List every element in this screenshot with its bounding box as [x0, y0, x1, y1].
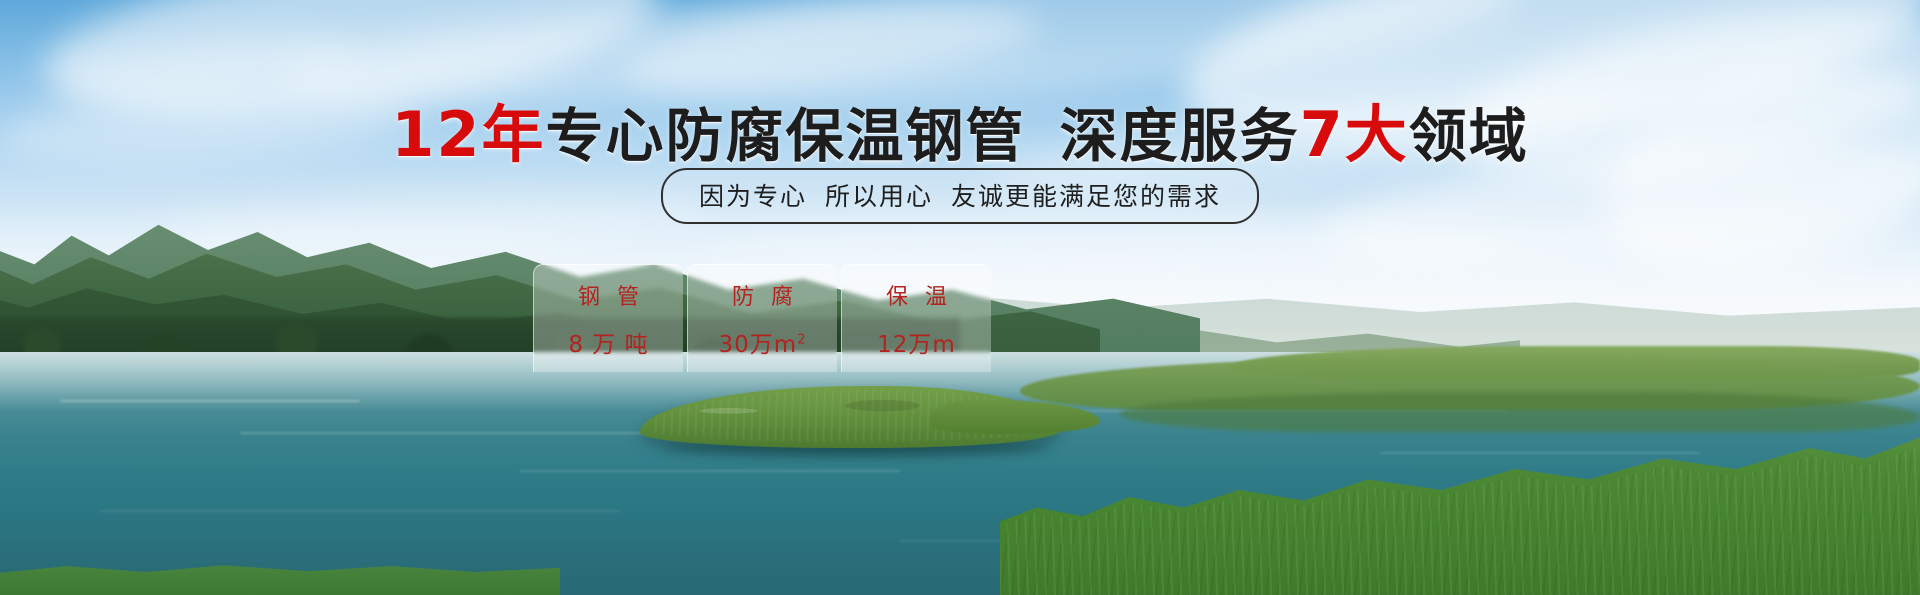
subtitle-wrapper: 因为专心所以用心友诚更能满足您的需求 [0, 168, 1920, 224]
headline-main: 专心防腐保温钢管 [546, 102, 1026, 170]
subtitle-pill: 因为专心所以用心友诚更能满足您的需求 [661, 168, 1259, 224]
stat-value-text: 30万m [719, 332, 798, 358]
banner-headline: 12年专心防腐保温钢管深度服务7大领域 [0, 84, 1920, 174]
stat-value-sup: 2 [797, 332, 806, 347]
hero-banner: 12年专心防腐保温钢管深度服务7大领域 因为专心所以用心友诚更能满足您的需求 钢… [0, 0, 1920, 595]
water-ripple [240, 432, 660, 434]
stat-card-anticorrosion[interactable]: 防 腐 30万m2 [687, 264, 837, 372]
headline-fields: 领域 [1409, 102, 1529, 170]
stat-value-text: 8 万 吨 [568, 332, 648, 358]
water-ripple [1380, 452, 1700, 454]
water-ripple [100, 510, 620, 512]
headline-years: 12年 [391, 98, 545, 171]
stat-card-insulation[interactable]: 保 温 12万m [841, 264, 991, 372]
stat-label: 钢 管 [573, 279, 644, 311]
stat-value: 30万m2 [719, 325, 807, 359]
stat-label: 防 腐 [727, 279, 798, 311]
headline-seven: 7大 [1300, 98, 1409, 171]
marsh-shadow [1120, 392, 1920, 432]
stat-value: 12万m [877, 325, 956, 359]
subtitle-seg-1: 因为专心 [699, 182, 807, 211]
headline-service: 深度服务 [1060, 102, 1300, 170]
water-ripple [520, 470, 900, 472]
subtitle-seg-3: 友诚更能满足您的需求 [951, 182, 1221, 211]
water-ripple [60, 400, 360, 402]
stat-value-text: 12万m [877, 332, 956, 358]
stat-card-group: 钢 管 8 万 吨 防 腐 30万m2 保 温 12万m [533, 264, 991, 372]
stat-card-steel-pipe[interactable]: 钢 管 8 万 吨 [533, 264, 683, 372]
stat-value: 8 万 吨 [568, 325, 648, 359]
stat-label: 保 温 [881, 279, 952, 311]
subtitle-seg-2: 所以用心 [825, 182, 933, 211]
